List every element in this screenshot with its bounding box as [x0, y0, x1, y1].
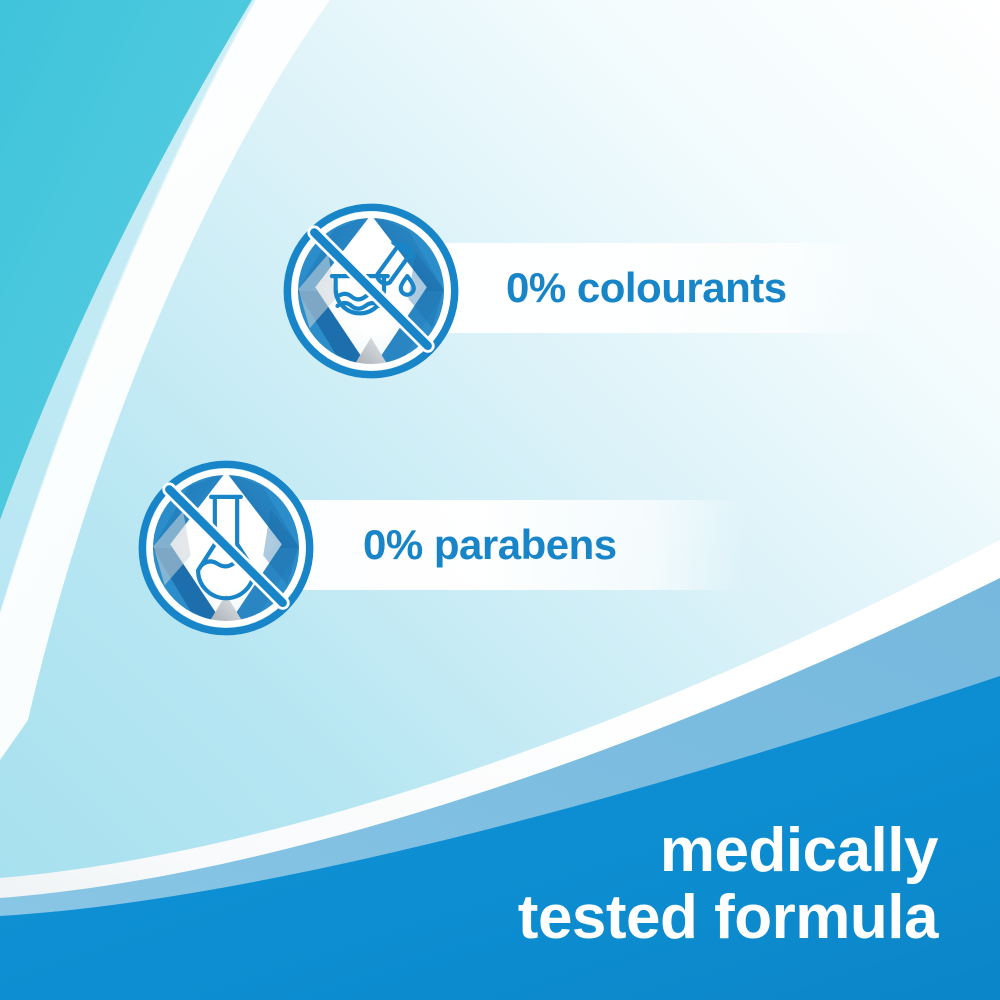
promo-graphic: 0% colourants	[0, 0, 1000, 1000]
no-parabens-icon	[133, 455, 319, 641]
headline: medically tested formula	[518, 818, 938, 952]
feature-row-colourants	[278, 198, 464, 384]
feature-banner-colourants: 0% colourants	[420, 243, 890, 333]
no-parabens-icon-glyph	[133, 455, 319, 641]
no-colourants-icon	[278, 198, 464, 384]
no-colourants-icon-glyph	[278, 198, 464, 384]
feature-label-colourants: 0% colourants	[420, 264, 787, 312]
headline-line-2: tested formula	[518, 885, 938, 952]
feature-label-parabens: 0% parabens	[275, 521, 617, 569]
headline-line-1: medically	[518, 818, 938, 885]
feature-row-parabens	[133, 455, 319, 641]
feature-banner-parabens: 0% parabens	[275, 500, 745, 590]
